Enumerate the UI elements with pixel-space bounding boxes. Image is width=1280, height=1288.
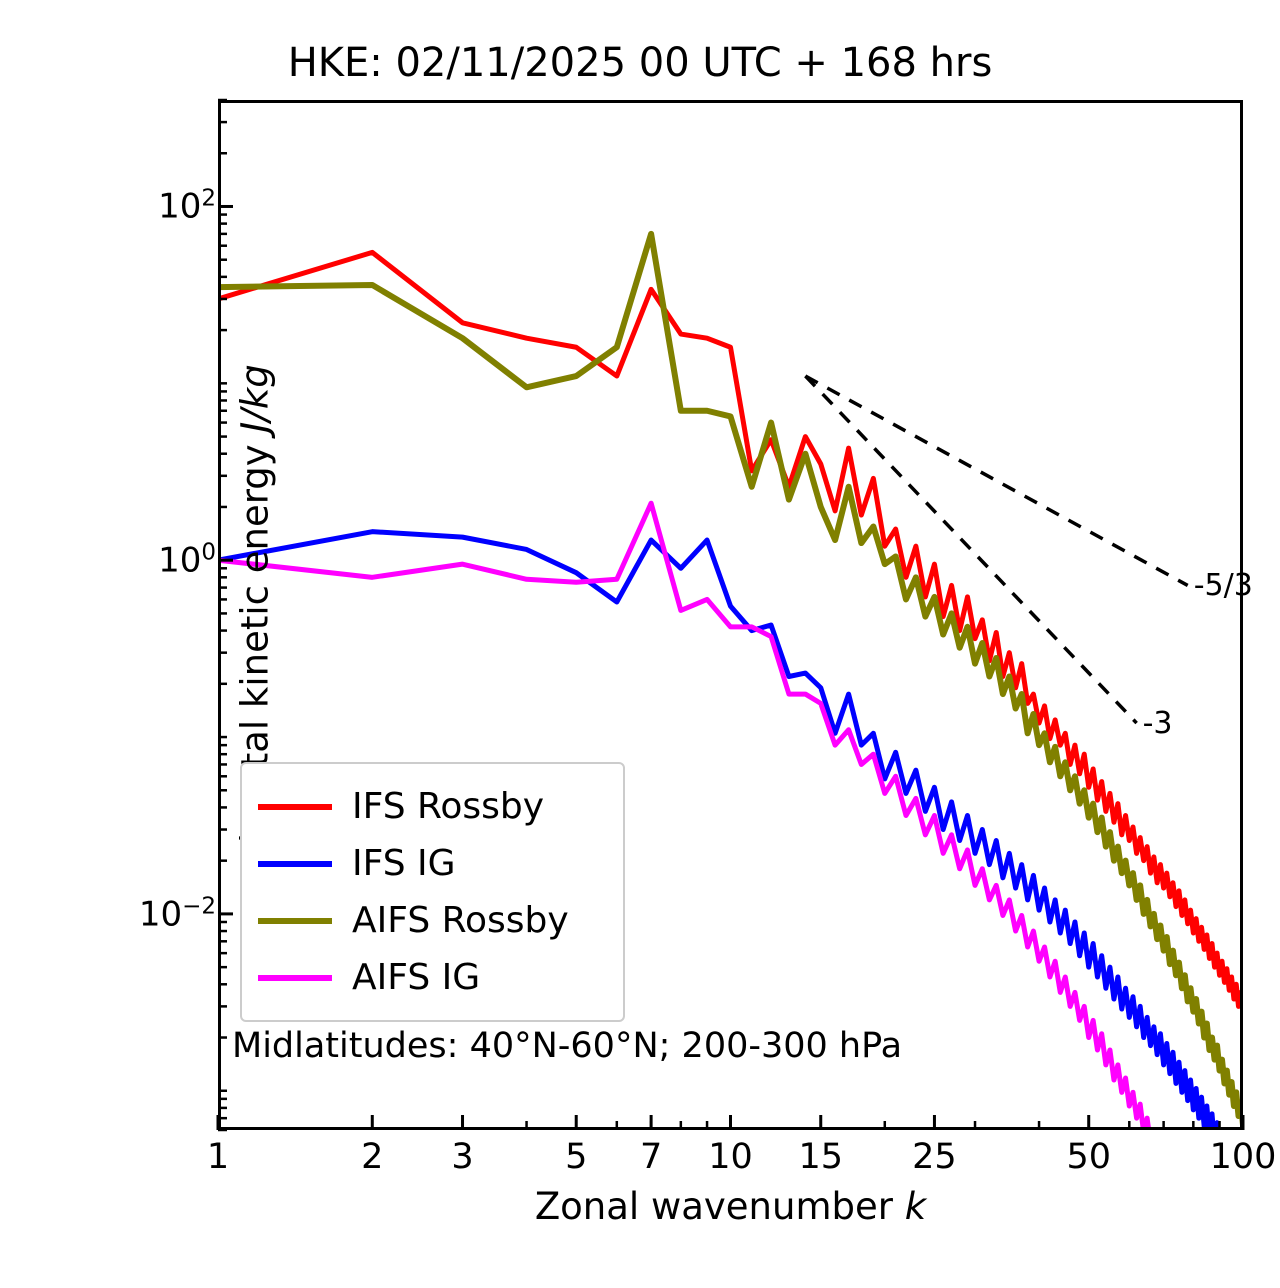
x-axis-label-text: Zonal wavenumber: [535, 1185, 893, 1228]
chart-title: HKE: 02/11/2025 00 UTC + 168 hrs: [0, 40, 1280, 86]
x-tick-label-25: 25: [912, 1137, 957, 1177]
y-tick-label-2: 102: [158, 186, 216, 227]
legend-swatch-icon: [258, 975, 332, 981]
x-tick-label-1: 1: [207, 1137, 229, 1177]
y-tick-label-1: 100: [158, 540, 216, 581]
legend-swatch-icon: [258, 918, 332, 924]
x-axis-label-symbol: k: [905, 1185, 926, 1228]
x-tick-label-7: 7: [640, 1137, 662, 1177]
x-tick-label-10: 10: [708, 1137, 753, 1177]
x-tick-label-3: 3: [451, 1137, 473, 1177]
figure-root: HKE: 02/11/2025 00 UTC + 168 hrs Horizon…: [0, 0, 1280, 1288]
x-tick-label-100: 100: [1210, 1137, 1277, 1177]
legend-label: AIFS Rossby: [352, 903, 569, 939]
slope-label--3: -3: [1143, 706, 1173, 741]
region-annotation: Midlatitudes: 40°N-60°N; 200-300 hPa: [232, 1026, 902, 1066]
legend-label: IFS Rossby: [352, 789, 544, 825]
slope-label--5-3: -5/3: [1194, 568, 1253, 603]
y-axis-label-units: J/kg: [234, 364, 277, 432]
x-tick-label-15: 15: [798, 1137, 843, 1177]
chart-legend[interactable]: IFS RossbyIFS IGAIFS RossbyAIFS IG: [240, 762, 625, 1022]
legend-item-aifs-rossby[interactable]: AIFS Rossby: [258, 892, 607, 949]
legend-item-ifs-rossby[interactable]: IFS Rossby: [258, 778, 607, 835]
legend-swatch-icon: [258, 861, 332, 867]
y-tick-label-0: 10−2: [139, 893, 216, 934]
x-tick-label-50: 50: [1066, 1137, 1111, 1177]
legend-label: AIFS IG: [352, 960, 480, 996]
legend-item-aifs-ig[interactable]: AIFS IG: [258, 949, 607, 1006]
legend-item-ifs-ig[interactable]: IFS IG: [258, 835, 607, 892]
x-tick-label-5: 5: [565, 1137, 587, 1177]
legend-label: IFS IG: [352, 846, 456, 882]
legend-swatch-icon: [258, 804, 332, 810]
x-tick-label-2: 2: [361, 1137, 383, 1177]
x-axis-label: Zonal wavenumber k: [218, 1185, 1243, 1228]
